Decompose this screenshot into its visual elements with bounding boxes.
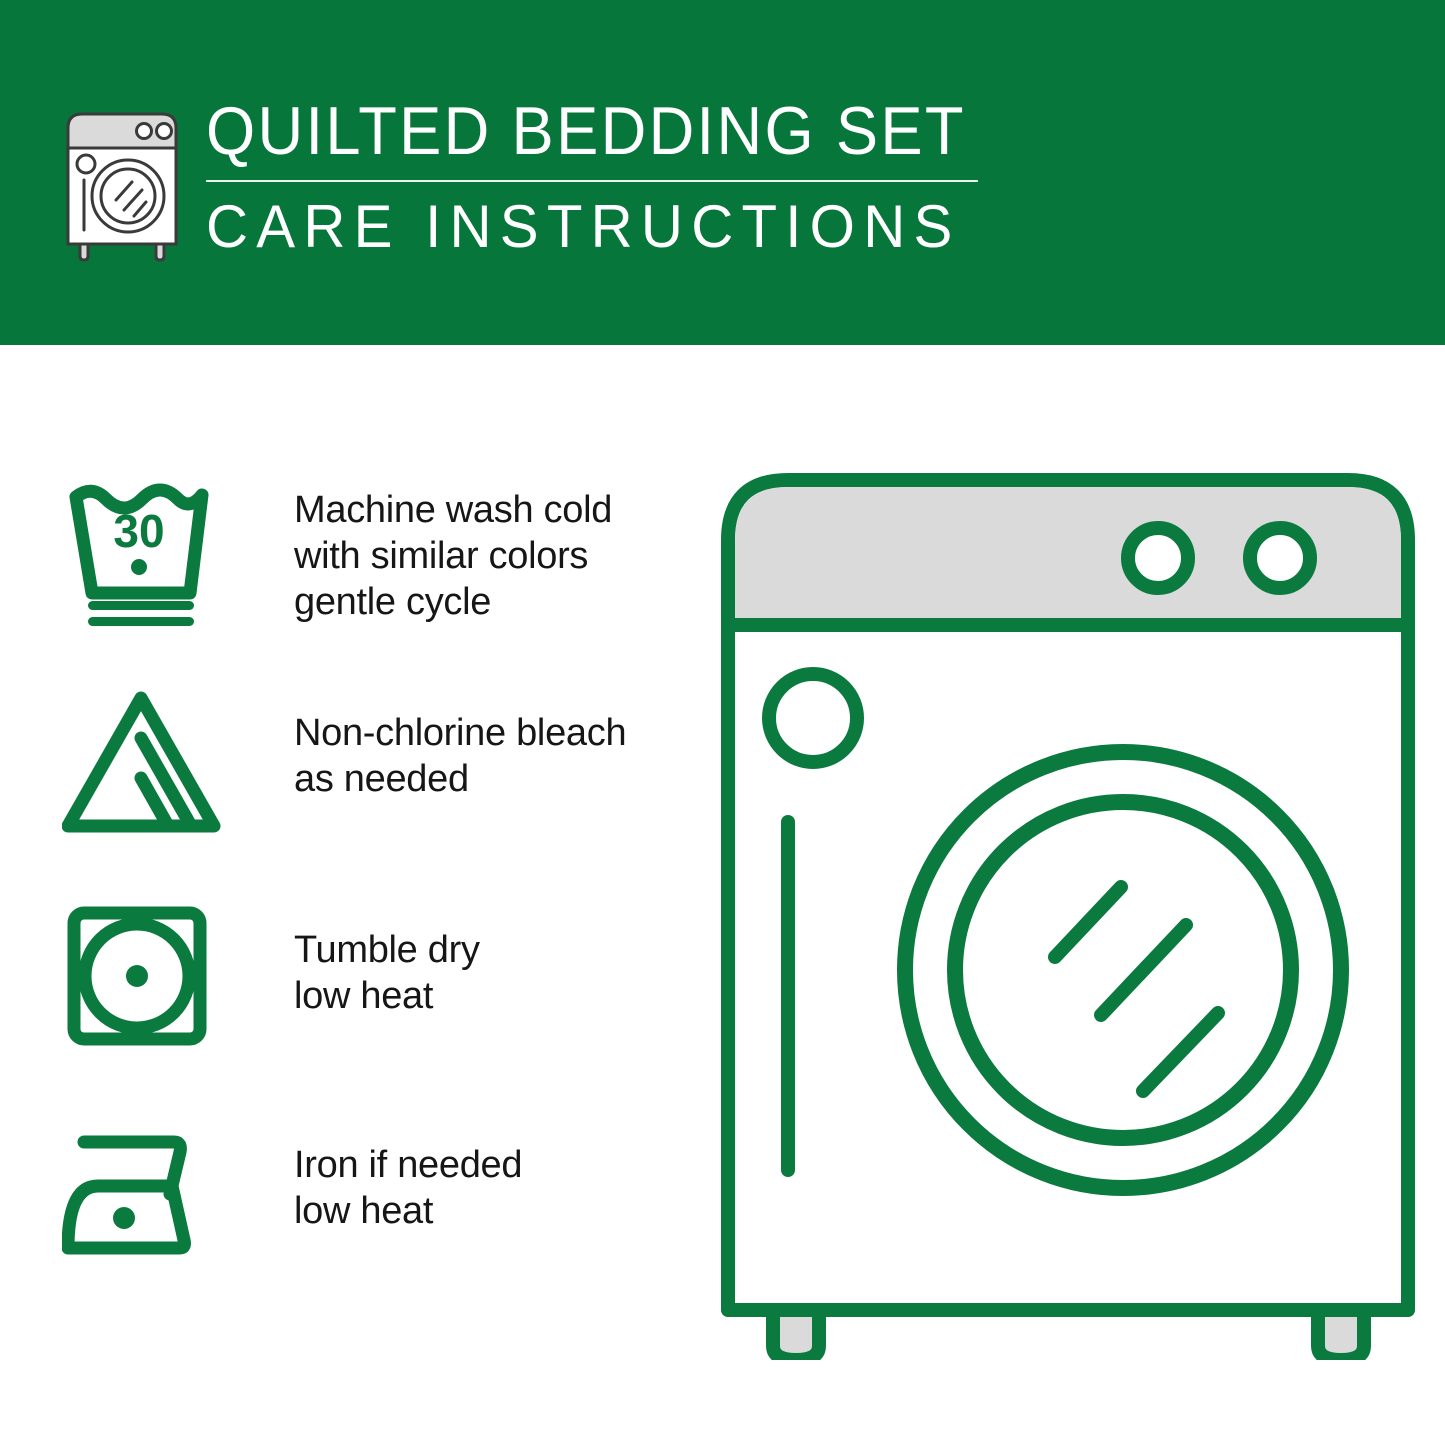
care-label-line: Tumble dry: [294, 927, 702, 973]
care-label-line: low heat: [294, 1188, 702, 1234]
main-content: 30 Machine wash cold with similar colors…: [0, 345, 1445, 1445]
care-label-machine-wash: Machine wash cold with similar colors ge…: [232, 475, 702, 625]
tumble-dry-low-icon: [62, 905, 232, 1065]
care-row-iron: Iron if needed low heat: [62, 1120, 702, 1335]
care-row-machine-wash: 30 Machine wash cold with similar colors…: [62, 475, 702, 690]
control-knob: [1250, 528, 1310, 588]
care-label-line: Machine wash cold: [294, 487, 702, 533]
header-title-group: QUILTED BEDDING SET CARE INSTRUCTIONS: [206, 96, 976, 258]
care-row-tumble-dry: Tumble dry low heat: [62, 905, 702, 1120]
machine-leg: [1318, 1310, 1364, 1360]
front-load-washing-machine-illustration: [718, 470, 1418, 1360]
care-instruction-list: 30 Machine wash cold with similar colors…: [62, 475, 702, 1335]
care-label-line: with similar colors: [294, 533, 702, 579]
door-inner-ring: [955, 802, 1291, 1138]
care-label-tumble-dry: Tumble dry low heat: [232, 905, 702, 1019]
care-label-line: Iron if needed: [294, 1142, 702, 1188]
care-instructions-page: QUILTED BEDDING SET CARE INSTRUCTIONS 30: [0, 0, 1445, 1445]
care-label-iron: Iron if needed low heat: [232, 1120, 702, 1234]
detergent-dispenser: [769, 674, 857, 762]
care-label-line: low heat: [294, 973, 702, 1019]
care-label-bleach: Non-chlorine bleach as needed: [232, 690, 702, 802]
machine-leg: [773, 1310, 819, 1360]
title-divider: [206, 180, 978, 182]
iron-low-heat-icon: [62, 1120, 232, 1280]
care-label-line: gentle cycle: [294, 579, 702, 625]
wash-tub-30-gentle-icon: 30: [62, 475, 232, 635]
page-subtitle: CARE INSTRUCTIONS: [206, 196, 953, 258]
wash-temperature-value: 30: [113, 505, 164, 557]
care-label-line: as needed: [294, 756, 702, 802]
washing-machine-icon: [60, 98, 184, 262]
header-banner: QUILTED BEDDING SET CARE INSTRUCTIONS: [0, 0, 1445, 345]
header-content: QUILTED BEDDING SET CARE INSTRUCTIONS: [60, 96, 1380, 271]
non-chlorine-bleach-triangle-icon: [62, 690, 232, 850]
page-title: QUILTED BEDDING SET: [206, 96, 922, 166]
control-knob: [1128, 528, 1188, 588]
care-label-line: Non-chlorine bleach: [294, 710, 702, 756]
care-row-bleach: Non-chlorine bleach as needed: [62, 690, 702, 905]
